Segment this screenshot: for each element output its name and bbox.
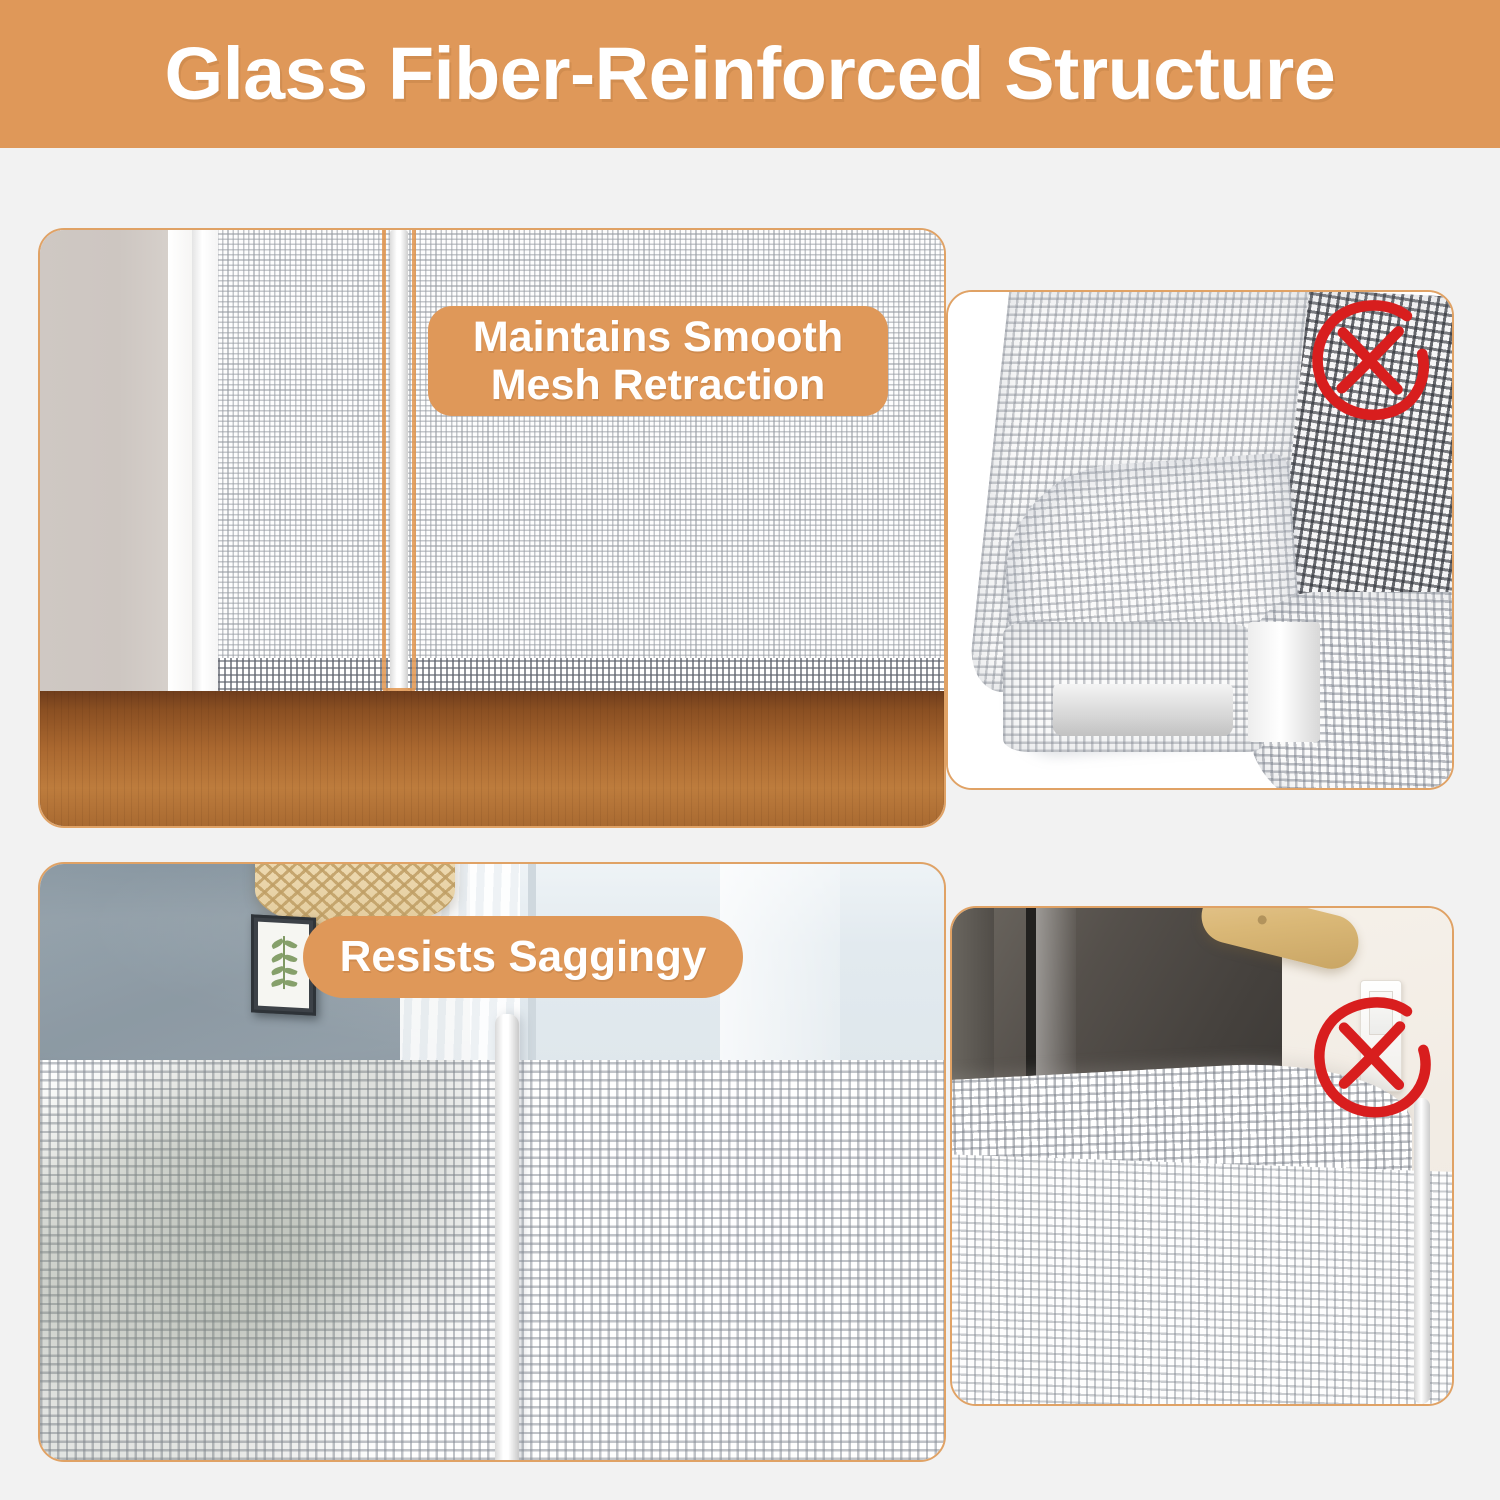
- guide-rod: [390, 230, 408, 692]
- label-maintains-smooth-mesh-retraction: Maintains Smooth Mesh Retraction: [428, 306, 888, 416]
- panel-bottom-right-bad-example: [950, 906, 1454, 1406]
- screen-edge-pole: [495, 1014, 519, 1462]
- red-circle-x-icon: [1298, 290, 1440, 432]
- pill-line-1: Resists Saggingy: [340, 932, 707, 981]
- screen-base-housing: [1053, 684, 1233, 736]
- mesh-see-through-shading: [40, 1060, 470, 1460]
- header-banner: Glass Fiber-Reinforced Structure: [0, 0, 1500, 148]
- artwork-mat: [258, 922, 309, 1009]
- screen-side-rail: [1248, 622, 1320, 742]
- fern-leaf: [283, 978, 297, 988]
- pill-line-2: Mesh Retraction: [473, 361, 843, 409]
- screen-edge-pole: [1414, 1098, 1430, 1404]
- fern-leaf: [283, 939, 297, 951]
- handle-screw: [1257, 914, 1268, 925]
- page-title: Glass Fiber-Reinforced Structure: [165, 37, 1336, 111]
- fern-leaf: [283, 953, 297, 964]
- side-wall: [40, 230, 170, 700]
- label-resists-saggingy: Resists Saggingy: [303, 916, 743, 998]
- red-circle-x-icon: [1302, 988, 1442, 1128]
- fern-leaf: [283, 966, 297, 977]
- screen-frame-post: [192, 230, 218, 750]
- sagging-mesh-screen-lower: [950, 1154, 1452, 1406]
- wooden-floor: [40, 691, 944, 826]
- pill-line-1: Maintains Smooth: [473, 313, 843, 361]
- extended-mesh-screen: [170, 230, 944, 708]
